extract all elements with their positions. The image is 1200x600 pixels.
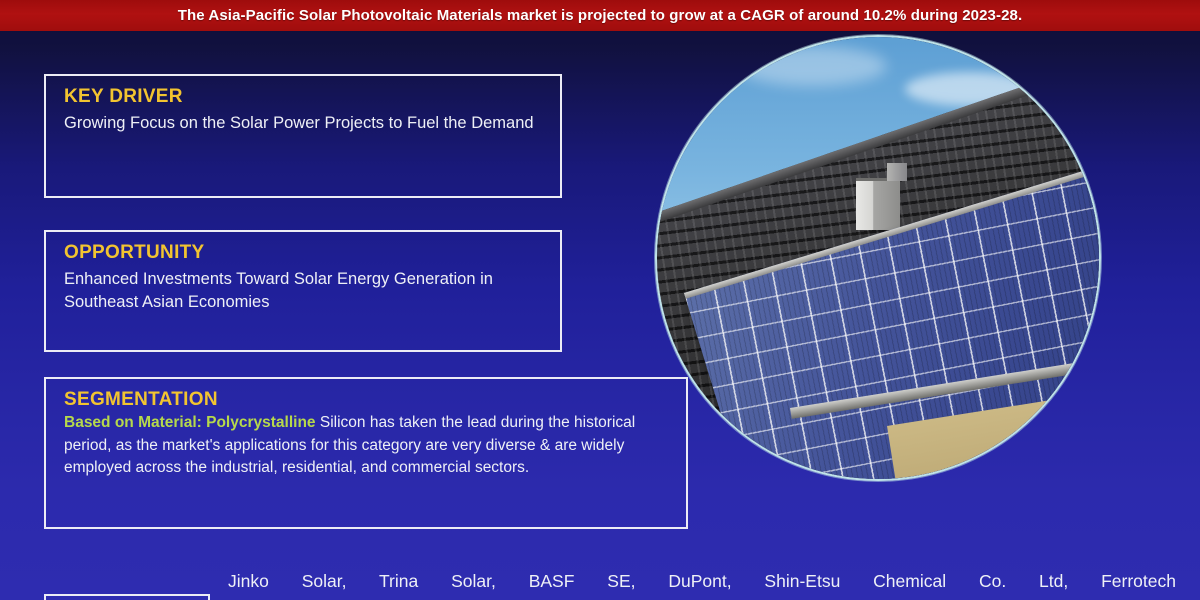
segmentation-box: SEGMENTATION Based on Material: Polycrys…	[44, 377, 688, 529]
opportunity-title: OPPORTUNITY	[64, 242, 544, 264]
key-players-label-box	[44, 594, 210, 600]
solar-panel-photo	[655, 35, 1101, 481]
photo-inner	[657, 37, 1099, 479]
key-driver-title: KEY DRIVER	[64, 86, 544, 108]
company-list-text: Jinko Solar, Trina Solar, BASF SE, DuPon…	[228, 568, 1176, 594]
segmentation-lead: Based on Material: Polycrystalline	[64, 414, 316, 431]
chimney-cap	[887, 163, 907, 181]
company-list: Jinko Solar, Trina Solar, BASF SE, DuPon…	[228, 568, 1176, 594]
headline-banner: The Asia-Pacific Solar Photovoltaic Mate…	[0, 0, 1200, 31]
opportunity-body: Enhanced Investments Toward Solar Energy…	[64, 268, 544, 315]
infographic-page: The Asia-Pacific Solar Photovoltaic Mate…	[0, 0, 1200, 600]
key-driver-body: Growing Focus on the Solar Power Project…	[64, 112, 544, 135]
chimney	[856, 178, 900, 230]
segmentation-body: Based on Material: Polycrystalline Silic…	[64, 412, 670, 480]
cloud-icon	[737, 46, 887, 86]
opportunity-box: OPPORTUNITY Enhanced Investments Toward …	[44, 230, 562, 352]
segmentation-title: SEGMENTATION	[64, 389, 670, 411]
key-driver-box: KEY DRIVER Growing Focus on the Solar Po…	[44, 74, 562, 198]
headline-text: The Asia-Pacific Solar Photovoltaic Mate…	[178, 7, 1023, 24]
